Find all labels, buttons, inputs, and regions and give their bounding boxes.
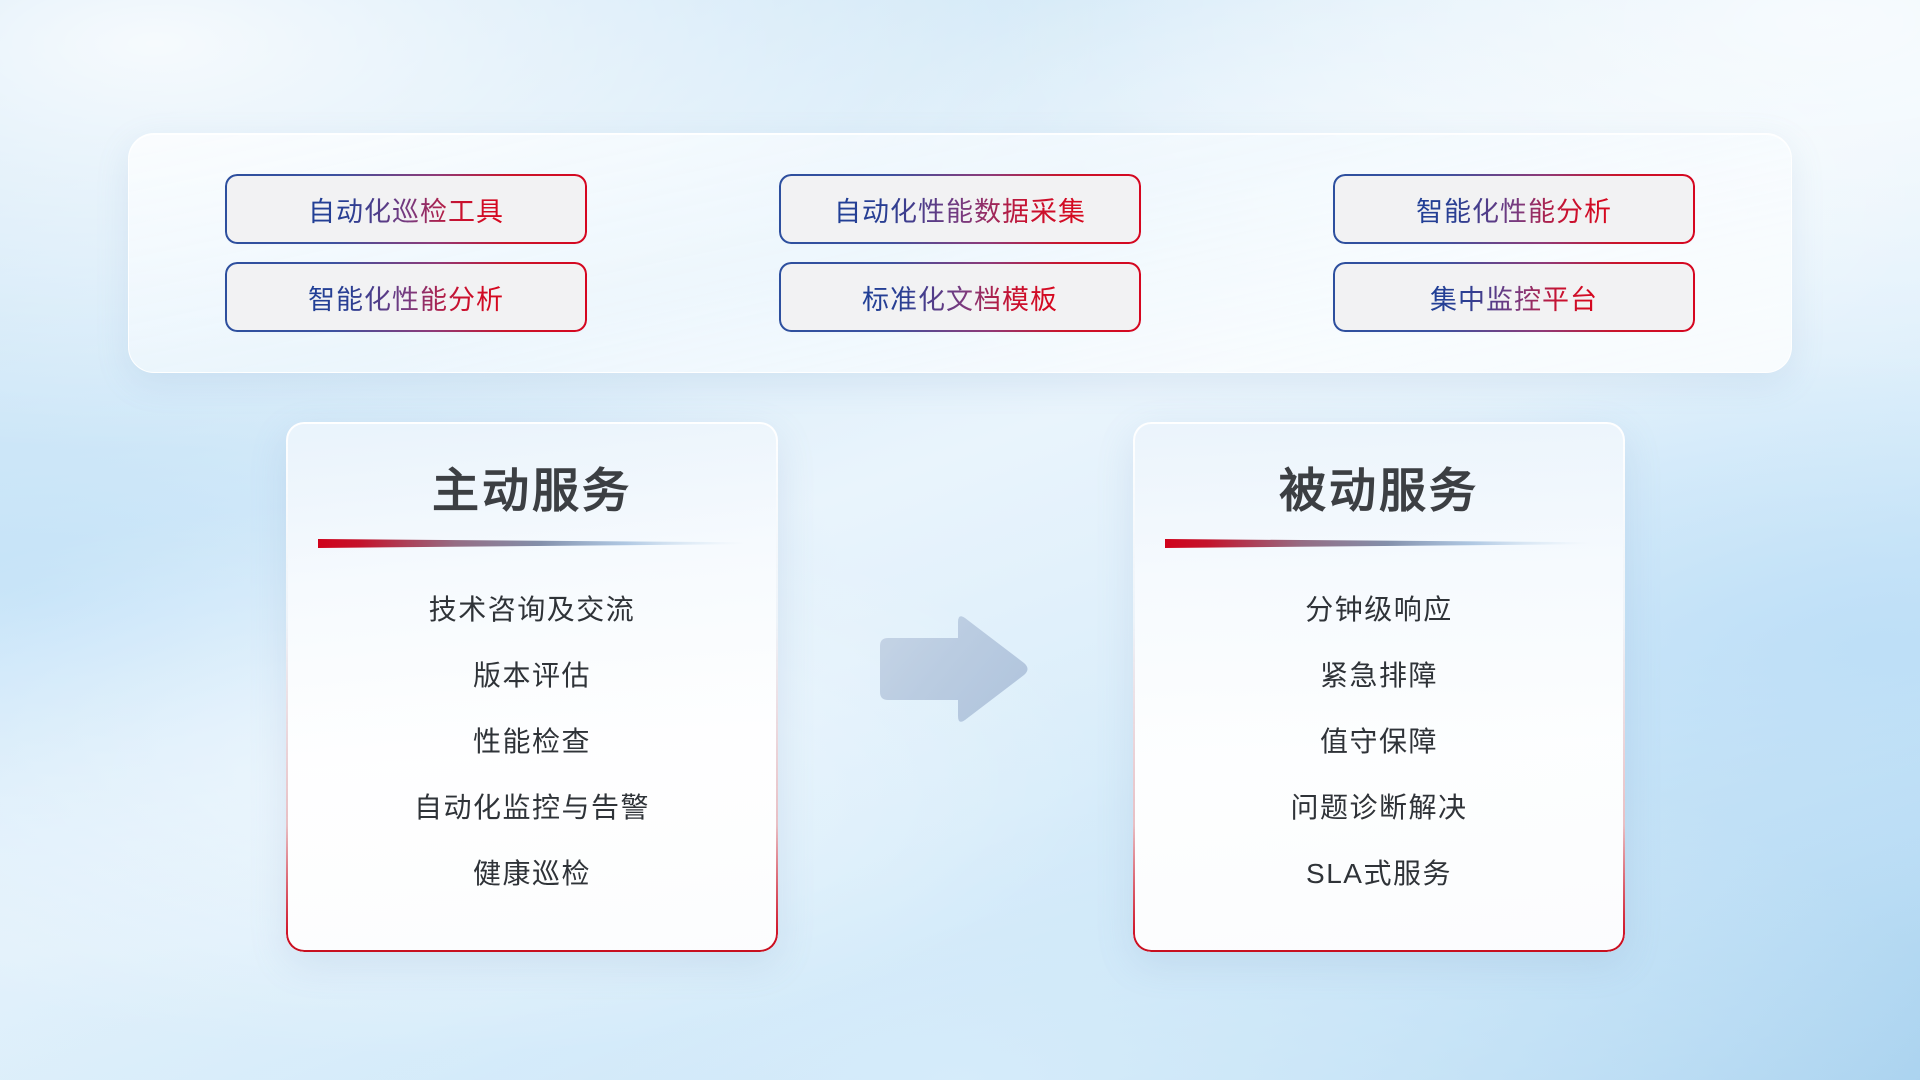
capability-chip-standardized-document-template[interactable]: 标准化文档模板 — [781, 264, 1139, 330]
flow-arrow-right-icon — [872, 610, 1032, 728]
list-item: 问题诊断解决 — [1133, 775, 1625, 841]
capability-chip-automated-performance-data-collection[interactable]: 自动化性能数据采集 — [781, 176, 1139, 242]
service-card-passive: 被动服务 分钟级响应 紧急排障 — [1133, 422, 1625, 952]
title-underline-active — [318, 537, 746, 549]
list-item: SLA式服务 — [1133, 841, 1625, 907]
chip-label: 自动化巡检工具 — [308, 190, 504, 229]
service-card-active: 主动服务 技术咨询及交流 版本评估 — [286, 422, 778, 952]
chip-label: 自动化性能数据采集 — [834, 190, 1086, 229]
chip-label: 集中监控平台 — [1430, 278, 1598, 317]
chip-label: 智能化性能分析 — [1416, 190, 1612, 229]
list-item: 紧急排障 — [1133, 643, 1625, 709]
capability-chip-centralized-monitoring-platform[interactable]: 集中监控平台 — [1335, 264, 1693, 330]
capability-chip-automated-inspection-tool[interactable]: 自动化巡检工具 — [227, 176, 585, 242]
list-item: 版本评估 — [286, 643, 778, 709]
card-title-passive: 被动服务 — [1133, 422, 1625, 521]
list-item: 性能检查 — [286, 709, 778, 775]
chip-label: 标准化文档模板 — [862, 278, 1058, 317]
list-item: 分钟级响应 — [1133, 577, 1625, 643]
capability-chip-intelligent-performance-analysis-2[interactable]: 智能化性能分析 — [227, 264, 585, 330]
list-item: 技术咨询及交流 — [286, 577, 778, 643]
capability-row-1: 自动化巡检工具 自动化性能数据采集 智能化性能分析 — [227, 176, 1693, 242]
title-underline-passive — [1165, 537, 1593, 549]
capability-panel: 自动化巡检工具 自动化性能数据采集 智能化性能分析 智能化性能分析 标准化文档模… — [128, 133, 1792, 373]
slide-canvas: 自动化巡检工具 自动化性能数据采集 智能化性能分析 智能化性能分析 标准化文档模… — [0, 0, 1920, 1080]
chip-label: 智能化性能分析 — [308, 278, 504, 317]
capability-chip-intelligent-performance-analysis[interactable]: 智能化性能分析 — [1335, 176, 1693, 242]
list-item: 值守保障 — [1133, 709, 1625, 775]
list-item: 自动化监控与告警 — [286, 775, 778, 841]
service-list-passive: 分钟级响应 紧急排障 值守保障 问题诊断解决 SLA式服务 — [1133, 549, 1625, 907]
list-item: 健康巡检 — [286, 841, 778, 907]
service-list-active: 技术咨询及交流 版本评估 性能检查 自动化监控与告警 健康巡检 — [286, 549, 778, 907]
capability-row-2: 智能化性能分析 标准化文档模板 集中监控平台 — [227, 264, 1693, 330]
card-title-active: 主动服务 — [286, 422, 778, 521]
